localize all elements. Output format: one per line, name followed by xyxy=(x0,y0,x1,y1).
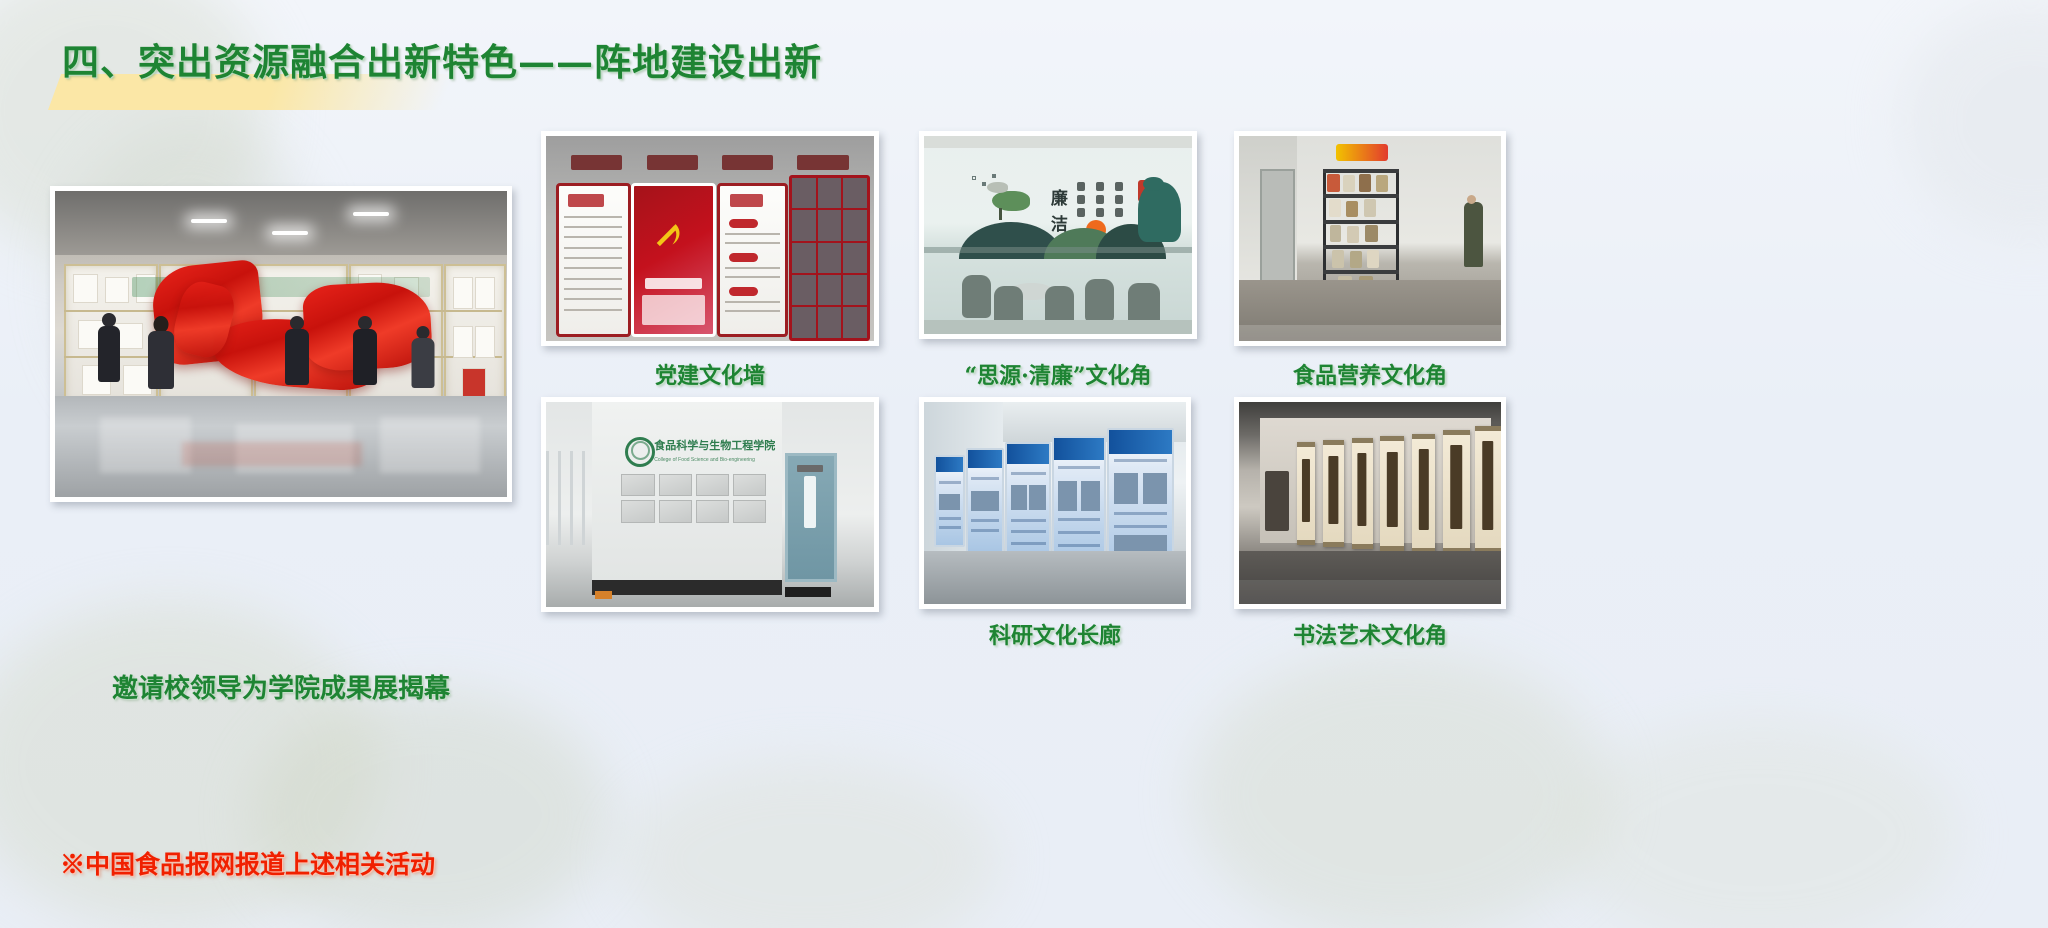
college-entrance-scene: 食品科学与生物工程学院 College of Food Science and … xyxy=(546,402,874,607)
food-nutrition-corner-photo[interactable] xyxy=(1234,131,1506,346)
calligraphy-art-corner-photo[interactable] xyxy=(1234,397,1506,609)
research-culture-corridor-caption: 科研文化长廊 xyxy=(919,618,1191,650)
siyuan-qinglian-corner-scene: 廉 洁 xyxy=(924,136,1192,334)
college-name-en: College of Food Science and Bio-engineer… xyxy=(654,457,755,463)
slide-canvas: 四、突出资源融合出新特色——阵地建设出新 xyxy=(0,0,2048,928)
footnote-text: ※中国食品报网报道上述相关活动 xyxy=(60,845,435,881)
calligraphy-art-corner-scene xyxy=(1239,402,1501,604)
party-culture-wall-scene xyxy=(546,136,874,341)
research-culture-corridor-photo[interactable] xyxy=(919,397,1191,609)
page-title: 四、突出资源融合出新特色——阵地建设出新 xyxy=(62,32,822,86)
research-culture-corridor-scene xyxy=(924,402,1186,604)
unveiling-ceremony-photo[interactable] xyxy=(50,186,512,502)
party-culture-wall-caption: 党建文化墙 xyxy=(541,358,879,390)
calligraphy-art-corner-caption: 书法艺术文化角 xyxy=(1234,618,1506,650)
hammer-sickle-icon xyxy=(652,210,683,260)
party-culture-wall-photo[interactable] xyxy=(541,131,879,346)
food-nutrition-corner-scene xyxy=(1239,136,1501,341)
siyuan-qinglian-corner-photo[interactable]: 廉 洁 xyxy=(919,131,1197,339)
siyuan-qinglian-corner-caption: “思源·清廉”文化角 xyxy=(905,358,1211,390)
college-name-cn: 食品科学与生物工程学院 xyxy=(654,437,775,453)
unveiling-ceremony-scene xyxy=(55,191,507,497)
unveiling-ceremony-caption: 邀请校领导为学院成果展揭幕 xyxy=(50,668,512,705)
college-entrance-photo[interactable]: 食品科学与生物工程学院 College of Food Science and … xyxy=(541,397,879,612)
food-nutrition-corner-caption: 食品营养文化角 xyxy=(1234,358,1506,390)
